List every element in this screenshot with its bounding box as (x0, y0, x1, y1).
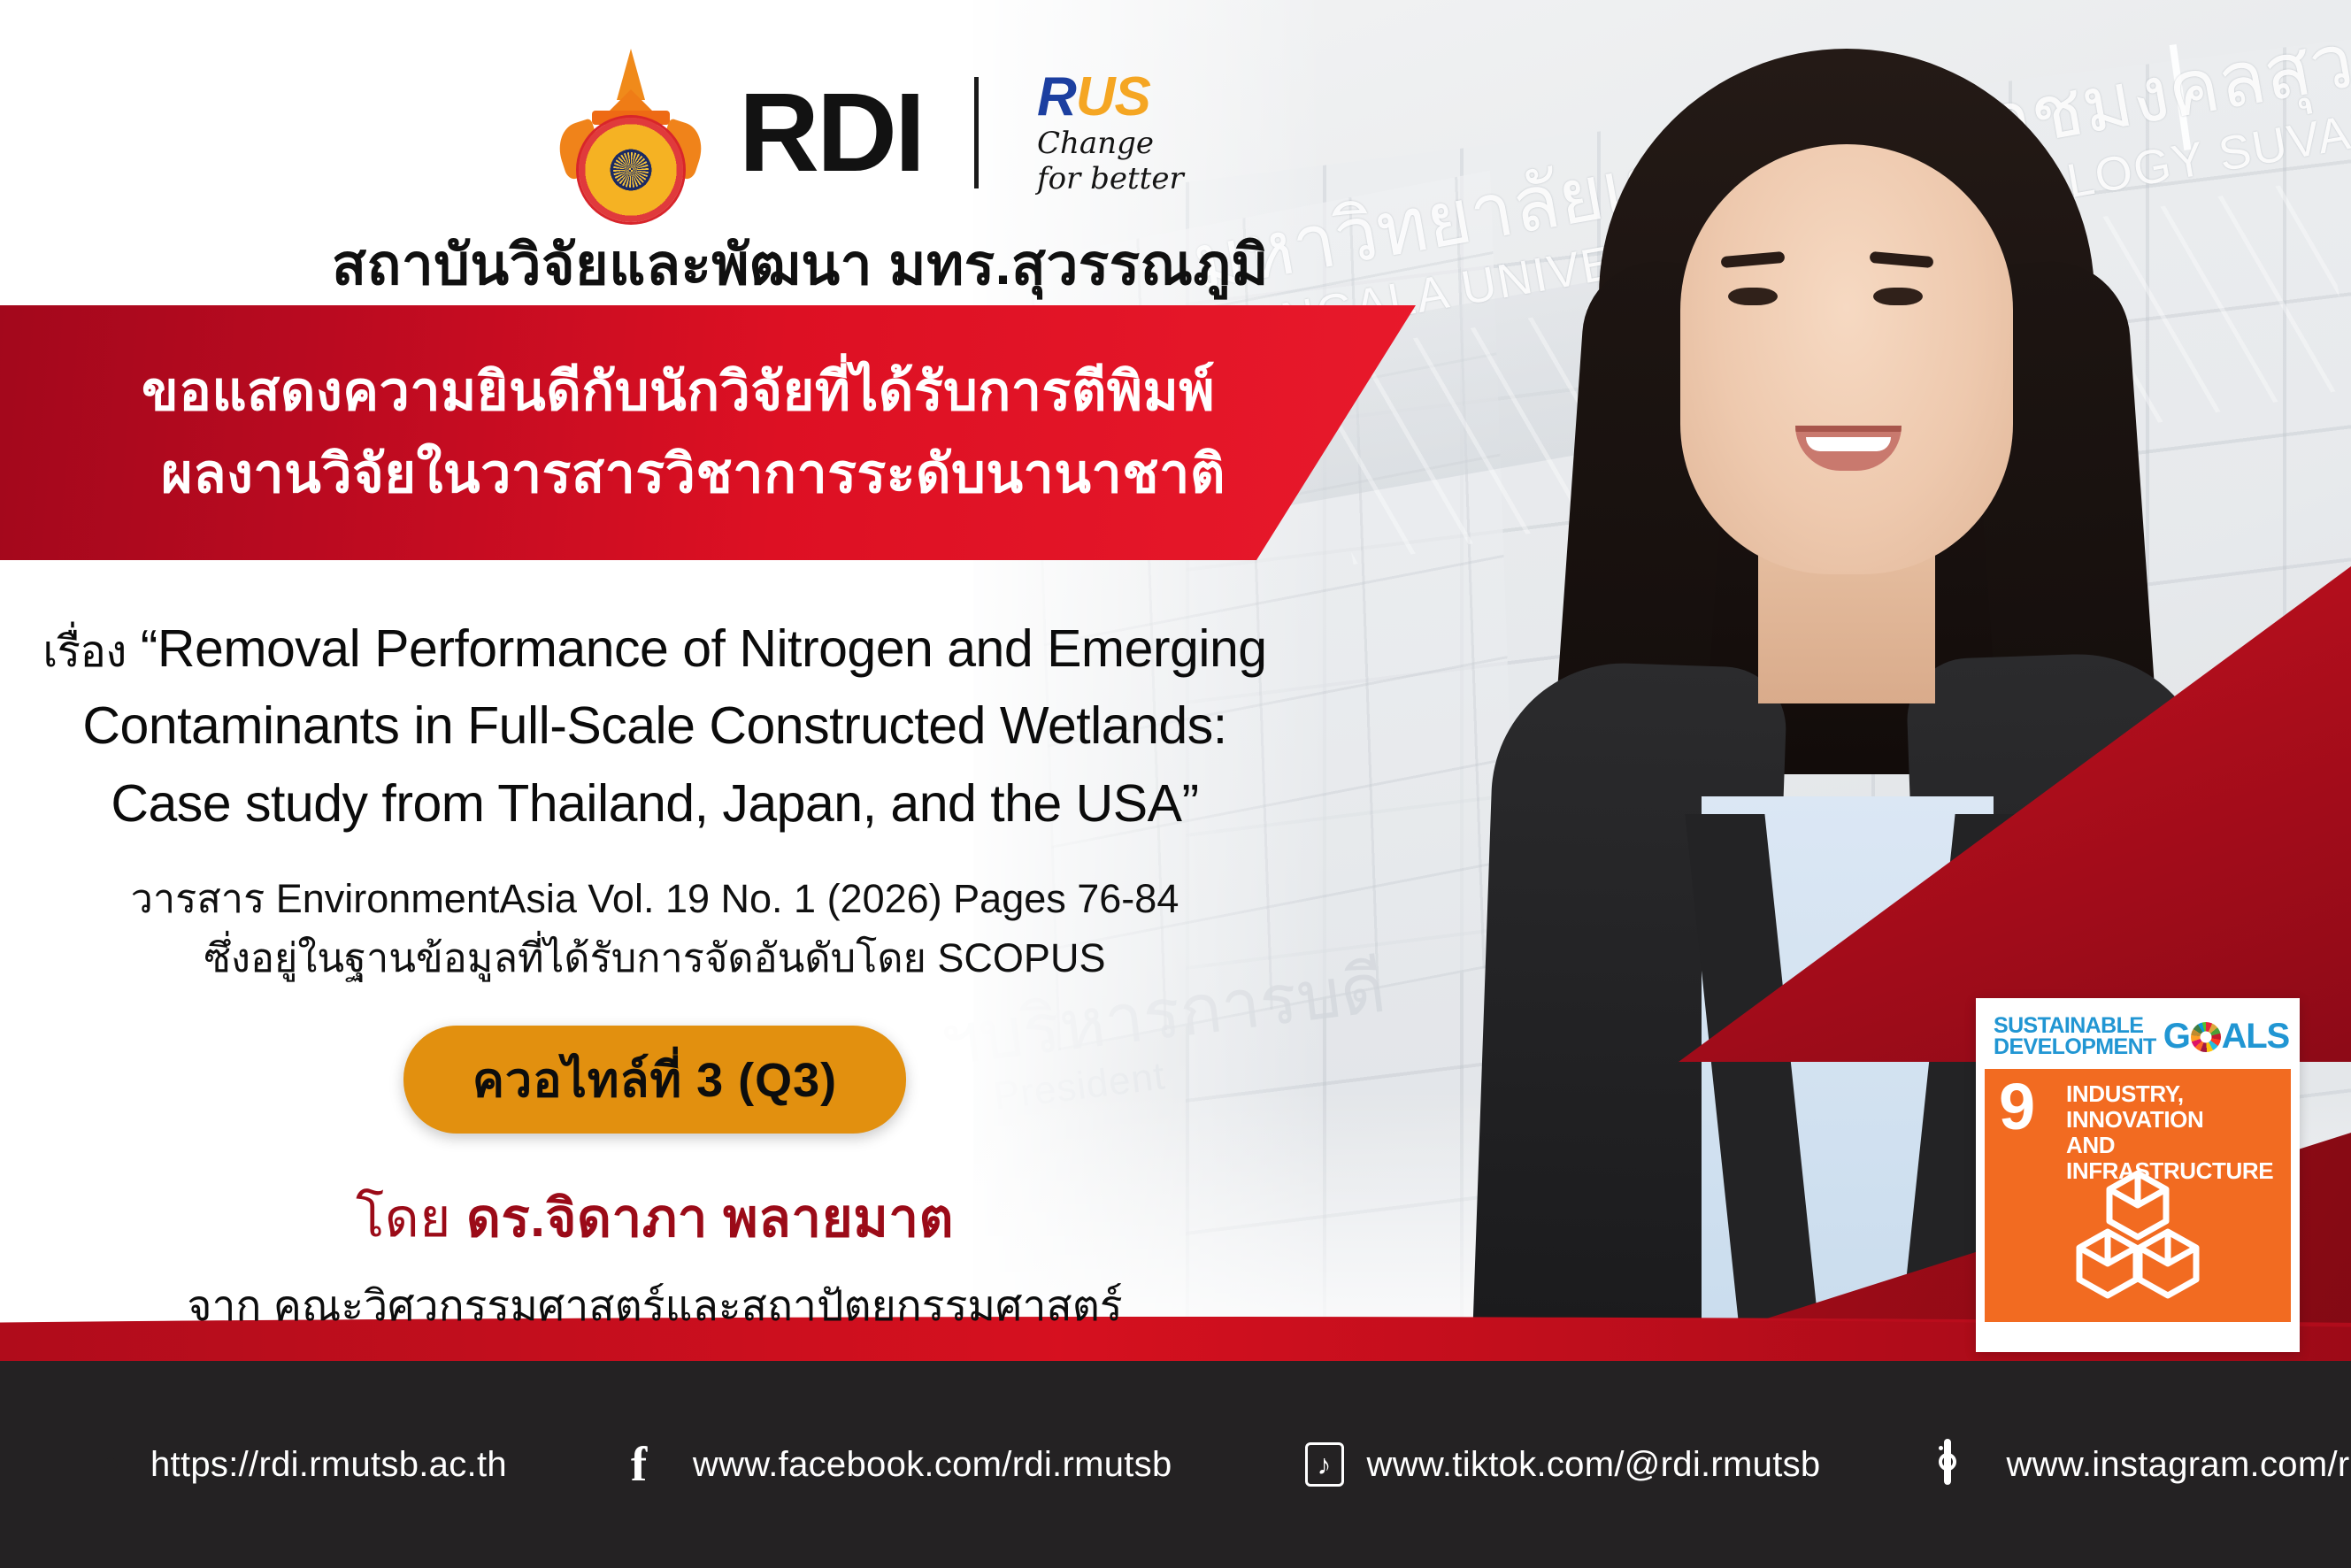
quartile-badge: ควอไทล์ที่ 3 (Q3) (403, 1026, 906, 1134)
journal-info: วารสาร EnvironmentAsia Vol. 19 No. 1 (20… (0, 869, 1310, 929)
sdg-goals-als: ALS (2222, 1017, 2289, 1057)
title-line-1: “Removal Performance of Nitrogen and Eme… (141, 619, 1267, 678)
main-content: เรื่อง “Removal Performance of Nitrogen … (0, 611, 1310, 1340)
tiktok-icon: ♪ (1305, 1442, 1349, 1487)
rus-us: US (1076, 66, 1150, 127)
logo-row: RDI RUS Change for better (557, 49, 1184, 217)
sdg-goal-number: 9 (1999, 1080, 2035, 1135)
sdg-goals-label: G ALS (2163, 1017, 2289, 1057)
portrait-eye-right (1873, 288, 1923, 305)
author-line: โดย ดร.จิดาภา พลายมาต (0, 1176, 1310, 1260)
footer-facebook-label: www.facebook.com/rdi.rmutsb (693, 1445, 1172, 1485)
database-info: ซึ่งอยู่ในฐานข้อมูลที่ได้รับการจัดอันดับ… (0, 928, 1310, 988)
banner-line-1: ขอแสดงความยินดีกับนักวิจัยที่ได้รับการตี… (142, 350, 1416, 433)
poster-canvas: มหาวิทยาลัยเทคโนโลยีราชมงคลสุวรรณภูมิ RA… (0, 0, 2351, 1568)
footer-bar: https://rdi.rmutsb.ac.th f www.facebook.… (0, 1361, 2351, 1568)
sdg-development-label: DEVELOPMENT (1994, 1037, 2156, 1058)
footer-tiktok-label: www.tiktok.com/@rdi.rmutsb (1367, 1445, 1821, 1485)
sdg-header-text: SUSTAINABLE DEVELOPMENT (1994, 1016, 2156, 1058)
sdg-badge: SUSTAINABLE DEVELOPMENT G ALS 9 INDUSTRY… (1976, 998, 2300, 1352)
instagram-icon (1944, 1442, 1988, 1487)
rus-wordmark: RUS (1037, 70, 1184, 125)
faculty-line: จาก คณะวิศวกรรมศาสตร์และสถาปัตยกรรมศาสตร… (0, 1272, 1310, 1340)
rdi-wordmark: RDI (739, 85, 923, 181)
sdg-goal-9-panel: 9 INDUSTRY, INNOVATION AND INFRASTRUCTUR… (1985, 1069, 2291, 1322)
tagline-line1: Change (1037, 128, 1184, 160)
quartile-badge-wrap: ควอไทล์ที่ 3 (Q3) (0, 1026, 1310, 1134)
rmutsb-crest-icon (557, 49, 703, 217)
rus-block: RUS Change for better (1037, 70, 1184, 195)
sdg-color-wheel-icon (2191, 1022, 2221, 1052)
title-prefix: เรื่อง (42, 628, 126, 676)
portrait-face (1680, 144, 2013, 574)
footer-tiktok-link[interactable]: ♪ www.tiktok.com/@rdi.rmutsb (1305, 1442, 1821, 1487)
logo-divider (974, 77, 979, 188)
rus-r: R (1037, 66, 1076, 127)
congratulation-banner: ขอแสดงความยินดีกับนักวิจัยที่ได้รับการตี… (0, 305, 1416, 560)
footer-facebook-link[interactable]: f www.facebook.com/rdi.rmutsb (631, 1442, 1172, 1487)
banner-line-2: ผลงานวิจัยในวารสารวิชาการระดับนานาชาติ (142, 433, 1416, 515)
footer-instagram-label: www.instagram.com/rdi.rmutsb (2006, 1445, 2351, 1485)
portrait-eye-left (1728, 288, 1778, 305)
article-title: เรื่อง “Removal Performance of Nitrogen … (0, 611, 1310, 842)
author-by-label: โดย (356, 1188, 451, 1248)
location-pin-icon (88, 1442, 133, 1487)
title-line-2: Contaminants in Full-Scale Constructed W… (82, 696, 1226, 755)
footer-website-link[interactable]: https://rdi.rmutsb.ac.th (88, 1442, 507, 1487)
title-line-3: Case study from Thailand, Japan, and the… (111, 774, 1198, 833)
footer-website-label: https://rdi.rmutsb.ac.th (150, 1445, 507, 1485)
sdg-goals-g: G (2163, 1017, 2190, 1057)
footer-instagram-link[interactable]: www.instagram.com/rdi.rmutsb (1944, 1442, 2351, 1487)
tagline-line2: for better (1037, 164, 1184, 196)
author-name: ดร.จิดาภา พลายมาต (466, 1188, 954, 1248)
facebook-icon: f (631, 1442, 675, 1487)
institute-name: สถาบันวิจัยและพัฒนา มทร.สุวรรณภูมิ (332, 219, 1269, 310)
sdg-cubes-icon (2067, 1168, 2209, 1301)
sdg-header: SUSTAINABLE DEVELOPMENT G ALS (1985, 1007, 2291, 1069)
sdg-goal-text-line1: INDUSTRY, INNOVATION (2066, 1081, 2280, 1133)
